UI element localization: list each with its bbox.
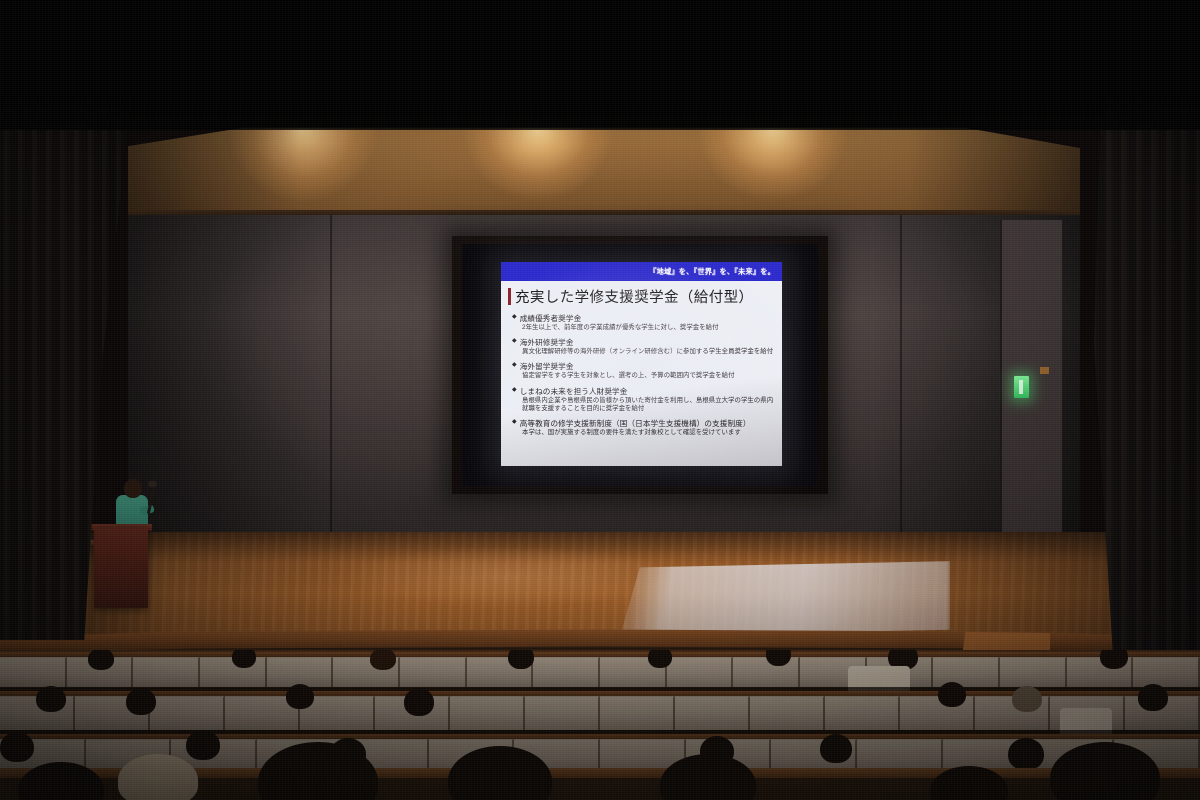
audience-head (126, 688, 156, 715)
slide-bullet: ◆ 海外留学奨学金 協定留学をする学生を対象とし、選考の上、予算の範囲内で奨学金… (512, 361, 774, 381)
seat[interactable] (933, 657, 1000, 687)
upper-stage-wall (128, 126, 1080, 218)
bullet-detail: 2年生以上で、前年度の学業成績が優秀な学生に対し、奨学金を給付 (522, 324, 774, 333)
wall-panel-right (1000, 220, 1062, 542)
audience-head (36, 686, 66, 712)
bullet-detail: 島根県内企業や島根県民の皆様から頂いた寄付金を利用し、島根県立大学の学生の県内就… (522, 397, 774, 414)
slide-bullet: ◆ 海外研修奨学金 異文化理解研修等の海外研修（オンライン研修含む）に参加する学… (512, 337, 774, 357)
seat[interactable] (450, 696, 525, 730)
audience-seating-area (0, 650, 1200, 800)
seat[interactable] (675, 696, 750, 730)
title-accent-bar (508, 288, 511, 305)
seat[interactable] (150, 696, 225, 730)
bullet-detail: 協定留学をする学生を対象とし、選考の上、予算の範囲内で奨学金を給付 (522, 372, 774, 381)
audience-head (232, 650, 256, 668)
audience-head (648, 650, 672, 668)
wall-fixture-icon (1040, 367, 1049, 374)
bullet-heading: 成績優秀者奨学金 (520, 313, 582, 324)
presentation-slide: 『地域』を、『世界』を、『未来』を。 充実した学修支援奨学金（給付型） ◆ 成績… (501, 262, 782, 466)
slide-title-row: 充実した学修支援奨学金（給付型） (501, 281, 782, 310)
bullet-heading-row: ◆ 海外留学奨学金 (512, 361, 774, 372)
bullet-heading-row: ◆ 成績優秀者奨学金 (512, 313, 774, 324)
stage-light-patch (620, 558, 950, 636)
slide-header-bar: 『地域』を、『世界』を、『未来』を。 (501, 262, 782, 281)
audience-head (1012, 686, 1042, 712)
audience-head (186, 730, 220, 760)
slide-bullet: ◆ しまねの未来を担う人財奨学金 島根県内企業や島根県民の皆様から頂いた寄付金を… (512, 386, 774, 414)
bullet-heading: 海外留学奨学金 (520, 361, 574, 372)
audience-head (508, 650, 534, 669)
podium (94, 528, 148, 608)
bullet-heading: しまねの未来を担う人財奨学金 (520, 386, 628, 397)
slide-bullet: ◆ 成績優秀者奨学金 2年生以上で、前年度の学業成績が優秀な学生に対し、奨学金を… (512, 313, 774, 333)
seat[interactable] (1133, 657, 1200, 687)
bullet-diamond-icon: ◆ (512, 313, 517, 321)
seat[interactable] (133, 657, 200, 687)
seat-row (0, 657, 1200, 687)
upper-wall-shading (128, 126, 1080, 218)
audience-head (938, 682, 966, 707)
slide-bullet: ◆ 高等教育の修学支援新制度（国（日本学生支援機構）の支援制度） 本学は、国が実… (512, 418, 774, 438)
stage-curtain-top (0, 0, 1200, 130)
audience-head (286, 684, 314, 709)
seat[interactable] (733, 657, 800, 687)
bullet-heading-row: ◆ 海外研修奨学金 (512, 337, 774, 348)
microphone-icon (148, 481, 157, 487)
bullet-heading: 高等教育の修学支援新制度（国（日本学生支援機構）の支援制度） (520, 418, 751, 429)
seat[interactable] (825, 696, 900, 730)
bullet-heading-row: ◆ しまねの未来を担う人財奨学金 (512, 386, 774, 397)
audience-head (1138, 684, 1168, 711)
bullet-diamond-icon: ◆ (512, 386, 517, 394)
slide-body: ◆ 成績優秀者奨学金 2年生以上で、前年度の学業成績が優秀な学生に対し、奨学金を… (501, 310, 782, 466)
audience-head (1008, 738, 1044, 770)
presenter-head (124, 479, 142, 498)
slide-title: 充実した学修支援奨学金（給付型） (515, 286, 753, 307)
emergency-exit-sign-icon (1014, 376, 1029, 398)
audience-head (0, 732, 34, 762)
slide-tagline: 『地域』を、『世界』を、『未来』を。 (649, 267, 775, 277)
seat[interactable] (750, 696, 825, 730)
bullet-diamond-icon: ◆ (512, 337, 517, 345)
audience-head (820, 734, 852, 763)
bullet-diamond-icon: ◆ (512, 361, 517, 369)
audience-head (404, 688, 434, 716)
seat[interactable] (1000, 657, 1067, 687)
wall-seam-right (900, 215, 902, 545)
audience-head (1100, 650, 1128, 669)
bullet-heading: 海外研修奨学金 (520, 337, 574, 348)
seat[interactable] (533, 657, 600, 687)
seat[interactable] (667, 657, 734, 687)
audience-head (370, 650, 396, 670)
bullet-heading-row: ◆ 高等教育の修学支援新制度（国（日本学生支援機構）の支援制度） (512, 418, 774, 429)
bullet-detail: 異文化理解研修等の海外研修（オンライン研修含む）に参加する学生全員奨学金を給付 (522, 348, 774, 357)
seat[interactable] (267, 657, 334, 687)
seat[interactable] (600, 696, 675, 730)
seat[interactable] (525, 696, 600, 730)
audience-head (88, 650, 114, 670)
seat[interactable] (400, 657, 467, 687)
auditorium-scene: 『地域』を、『世界』を、『未来』を。 充実した学修支援奨学金（給付型） ◆ 成績… (0, 0, 1200, 800)
bullet-detail: 本学は、国が実施する制度の要件を満たす対象校として確認を受けています (522, 429, 774, 438)
seat[interactable] (0, 657, 67, 687)
audience-cap (118, 754, 198, 800)
bullet-diamond-icon: ◆ (512, 418, 517, 426)
wall-seam-left (330, 215, 332, 545)
